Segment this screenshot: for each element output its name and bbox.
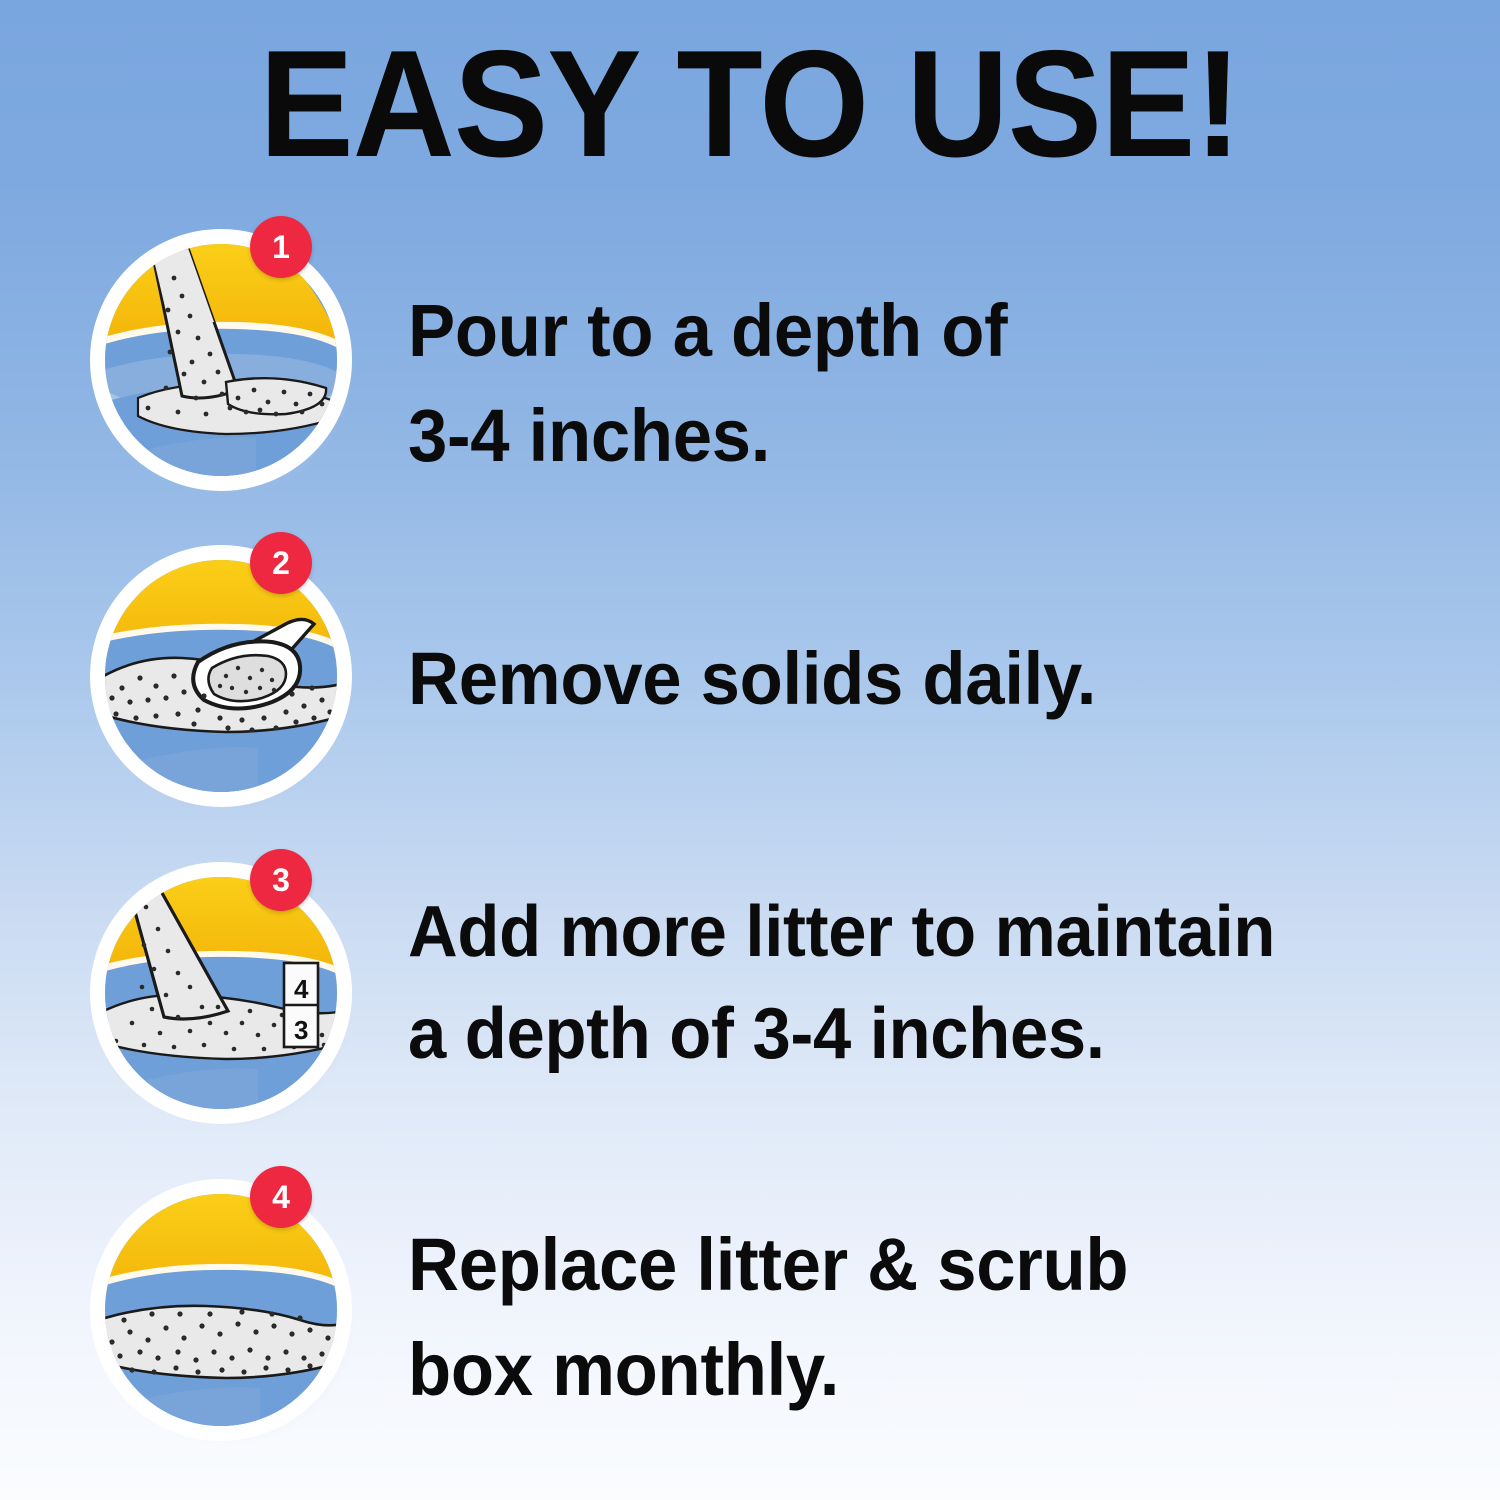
step-1: 1 Pour to a depth of 3-4 inches.: [0, 212, 1500, 512]
add-litter-ruler-icon: 4 3: [86, 845, 366, 1135]
step-1-icon: 1: [86, 212, 366, 502]
step-3-line-1: Add more litter to maintain: [408, 881, 1420, 983]
easy-to-use-infographic: EASY TO USE!: [0, 0, 1500, 1500]
step-1-text: Pour to a depth of 3-4 inches.: [408, 278, 1420, 488]
step-3: 4 3 3 Add more litter to maintain a dept…: [0, 845, 1500, 1145]
svg-text:3: 3: [294, 1015, 308, 1045]
step-2-text: Remove solids daily.: [408, 626, 1420, 731]
step-1-badge: 1: [250, 216, 312, 278]
svg-text:4: 4: [294, 974, 309, 1004]
step-3-icon: 4 3 3: [86, 845, 366, 1135]
step-3-text: Add more litter to maintain a depth of 3…: [408, 881, 1420, 1085]
depth-ruler: 4 3: [284, 963, 318, 1047]
page-title: EASY TO USE!: [53, 28, 1448, 180]
step-4-line-1: Replace litter & scrub: [408, 1212, 1420, 1317]
step-4: 4 Replace litter & scrub box monthly.: [0, 1162, 1500, 1462]
step-2-badge: 2: [250, 532, 312, 594]
step-1-line-2: 3-4 inches.: [408, 383, 1420, 488]
scoop-solids-icon: [86, 528, 366, 818]
clean-box-icon: [86, 1162, 366, 1452]
step-3-badge: 3: [250, 849, 312, 911]
step-4-line-2: box monthly.: [408, 1317, 1420, 1422]
step-3-line-2: a depth of 3-4 inches.: [408, 983, 1420, 1085]
step-1-line-1: Pour to a depth of: [408, 278, 1420, 383]
step-4-icon: 4: [86, 1162, 366, 1452]
step-4-badge: 4: [250, 1166, 312, 1228]
step-4-text: Replace litter & scrub box monthly.: [408, 1212, 1420, 1422]
pour-litter-icon: [86, 212, 366, 502]
step-2: 2 Remove solids daily.: [0, 528, 1500, 828]
step-2-line-1: Remove solids daily.: [408, 626, 1420, 731]
step-2-icon: 2: [86, 528, 366, 818]
